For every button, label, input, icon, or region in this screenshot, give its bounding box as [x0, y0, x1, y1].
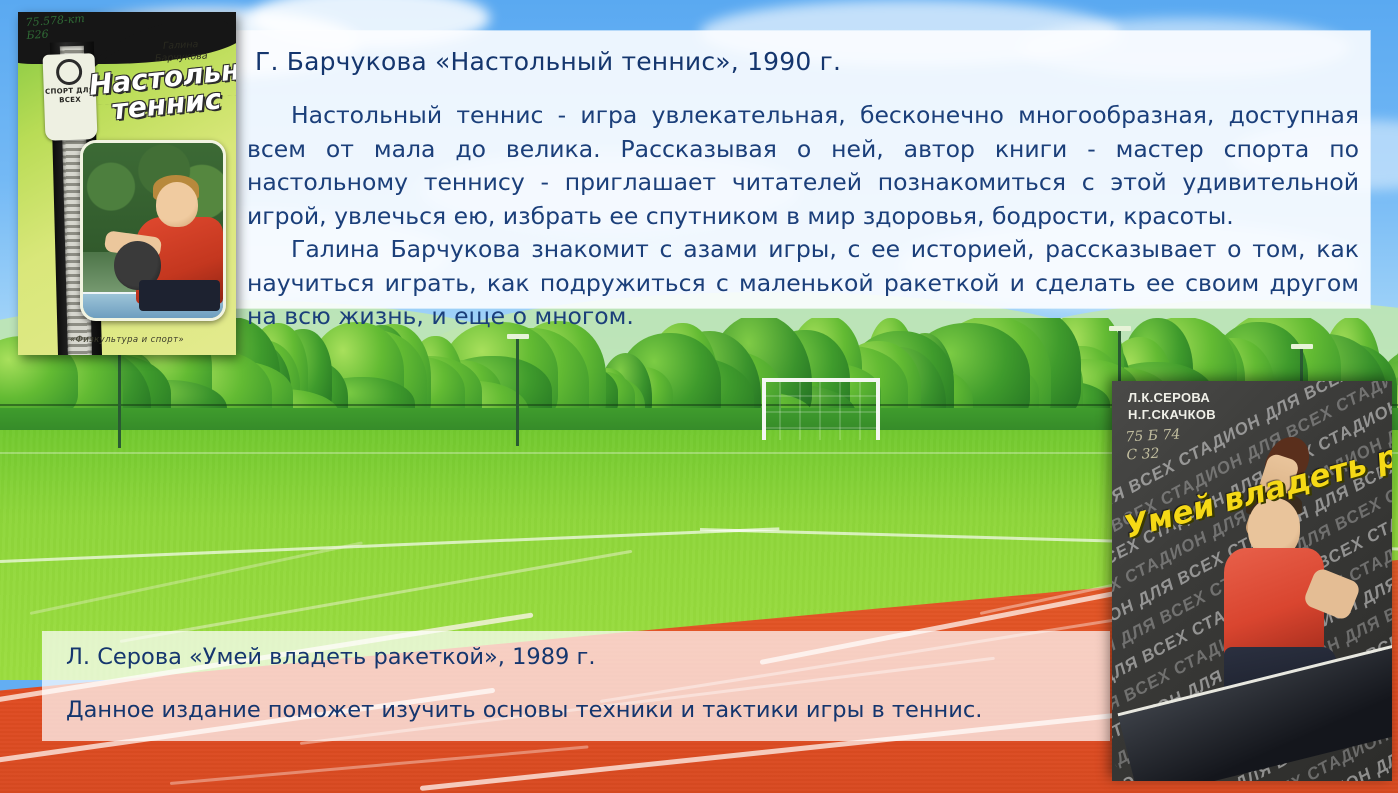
series-badge-label: СПОРТ ДЛЯ ВСЕХ [44, 86, 97, 106]
book-left-title: Настольный теннис [88, 56, 236, 125]
book-cover-right: СТАДИОН ДЛЯ ВСЕХ СТАДИОН ДЛЯ ВСЕХ СТАДИО… [1112, 381, 1392, 781]
top-panel-paragraph-1: Настольный теннис - игра увлекательная, … [247, 99, 1359, 233]
book-left-photo [80, 140, 226, 321]
bottom-caption-panel: Л. Серова «Умей владеть ракеткой», 1989 … [42, 631, 1110, 741]
light-pole [516, 338, 519, 446]
soccer-goal-icon [760, 376, 890, 442]
bottom-panel-description: Данное издание поможет изучить основы те… [66, 697, 982, 723]
slide-canvas: Г. Барчукова «Настольный теннис», 1990 г… [0, 0, 1398, 793]
bottom-panel-title: Л. Серова «Умей владеть ракеткой», 1989 … [66, 644, 596, 670]
book-cover-left: СПОРТ ДЛЯ ВСЕХ Галина Барчукова Настольн… [18, 12, 236, 355]
top-panel-body: Настольный теннис - игра увлекательная, … [247, 99, 1359, 334]
badge-ring-icon [56, 59, 83, 86]
top-panel-paragraph-2: Галина Барчукова знакомит с азами игры, … [247, 233, 1359, 334]
book-right-authors: Л.К.СЕРОВА Н.Г.СКАЧКОВ [1128, 389, 1216, 423]
top-panel-title: Г. Барчукова «Настольный теннис», 1990 г… [255, 47, 841, 76]
book-right-library-stamp: 75 Б 74 С 32 [1125, 426, 1182, 465]
light-pole [118, 352, 121, 448]
top-text-panel: Г. Барчукова «Настольный теннис», 1990 г… [233, 31, 1370, 308]
photo-player-shorts [139, 280, 220, 312]
photo-player-head [156, 182, 198, 228]
book-left-publisher: «Физкультура и спорт» [18, 335, 236, 345]
book-left-library-stamp: 75.578-кт Б26 [25, 12, 86, 42]
